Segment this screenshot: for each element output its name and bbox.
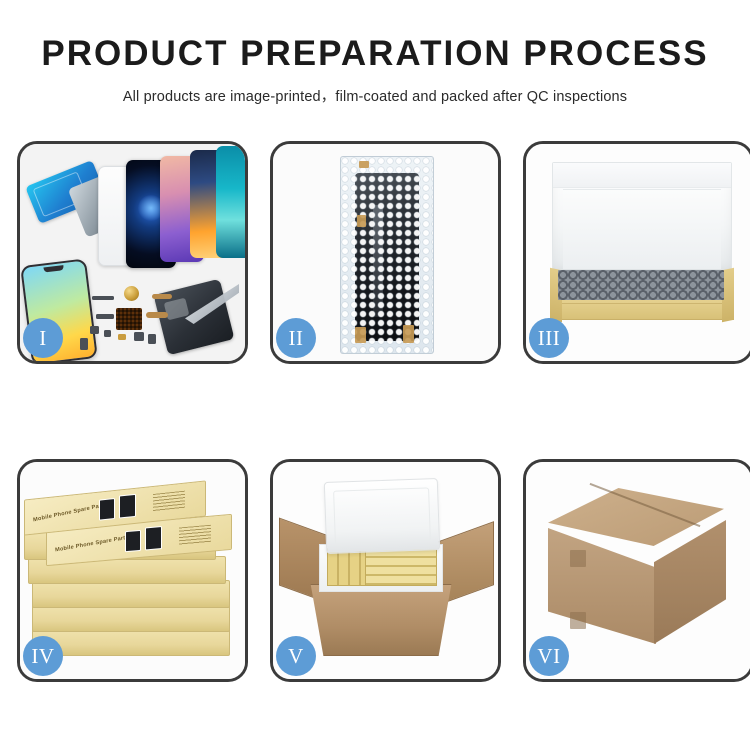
step-badge-6: VI bbox=[529, 636, 569, 676]
stacked-box-4 bbox=[32, 580, 230, 608]
shield-grid-icon bbox=[116, 308, 142, 330]
process-step-panel-2: II bbox=[270, 141, 501, 364]
step-badge-1: I bbox=[23, 318, 63, 358]
flex-cable-icon bbox=[152, 294, 172, 299]
tape-piece-bottom-right-icon bbox=[403, 325, 414, 343]
box-spec-lines-front bbox=[179, 525, 211, 546]
page-title: PRODUCT PREPARATION PROCESS bbox=[0, 36, 750, 73]
page-subtitle: All products are image-printed，film-coat… bbox=[0, 85, 750, 106]
bubble-wrap-bag-icon bbox=[340, 156, 434, 354]
chip-component-2-icon bbox=[104, 330, 111, 337]
carton-tape-patch-upper bbox=[570, 550, 586, 567]
gold-contact-icon bbox=[118, 334, 126, 340]
chip-component-icon bbox=[90, 326, 99, 334]
box-art-phone-4 bbox=[119, 494, 136, 519]
step-badge-3: III bbox=[529, 318, 569, 358]
process-step-panel-6: VI bbox=[523, 459, 750, 682]
process-step-panel-1: I bbox=[17, 141, 248, 364]
carton-tape-patch-lower bbox=[570, 612, 586, 629]
bubble-filled-contents-icon bbox=[558, 270, 724, 300]
tape-piece-mid-icon bbox=[357, 215, 366, 227]
earpiece-component-icon bbox=[92, 296, 114, 300]
yellow-boxes-flat-icon bbox=[365, 548, 437, 586]
box-art-phone-2 bbox=[145, 526, 162, 550]
bubble-texture bbox=[341, 157, 433, 353]
process-step-grid: I II bbox=[17, 141, 735, 731]
carton-body-icon bbox=[301, 584, 461, 656]
styrofoam-lid-icon bbox=[324, 478, 440, 554]
process-step-panel-4: Mobile Phone Spare Parts Mobile Phone Sp… bbox=[17, 459, 248, 682]
stacked-box-5 bbox=[32, 604, 230, 632]
box-art-phone-1 bbox=[125, 530, 141, 552]
connector-icon bbox=[96, 314, 114, 319]
box-art-phone-3 bbox=[99, 498, 115, 521]
step-badge-4: IV bbox=[23, 636, 63, 676]
teal-display-icon bbox=[216, 146, 245, 258]
sim-tray-icon bbox=[148, 334, 156, 344]
speaker-component-icon bbox=[124, 286, 139, 301]
button-component-icon bbox=[80, 338, 88, 350]
process-step-panel-5: V bbox=[270, 459, 501, 682]
step-badge-2: II bbox=[276, 318, 316, 358]
product-preparation-infographic: PRODUCT PREPARATION PROCESS All products… bbox=[0, 0, 750, 750]
step-badge-5: V bbox=[276, 636, 316, 676]
flex-cable-2-icon bbox=[146, 312, 168, 318]
process-step-panel-3: III bbox=[523, 141, 750, 364]
carton-front-face bbox=[548, 528, 656, 644]
box-spec-lines-back bbox=[153, 491, 185, 512]
tape-piece-bottom-left-icon bbox=[355, 327, 366, 343]
foam-lid-icon bbox=[552, 162, 732, 276]
header: PRODUCT PREPARATION PROCESS All products… bbox=[0, 0, 750, 106]
camera-module-icon bbox=[134, 332, 144, 341]
tape-piece-top-icon bbox=[359, 161, 369, 168]
